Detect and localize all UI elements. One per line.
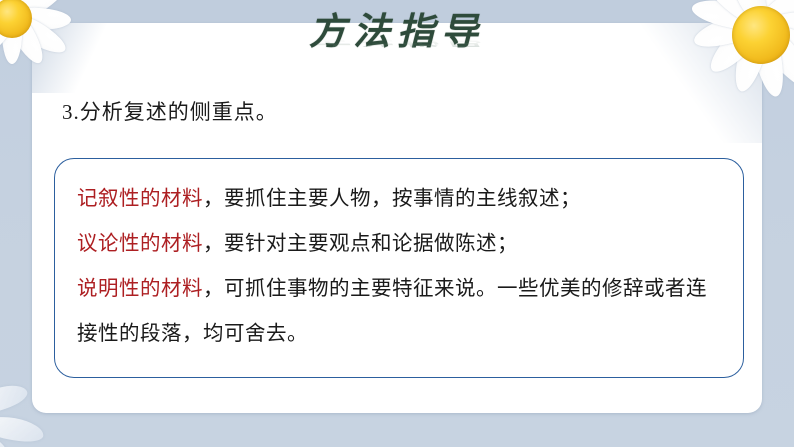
section-heading: 3.分析复述的侧重点。 [62,96,278,126]
method-note-box: 记叙性的材料，要抓住主要人物，按事情的主线叙述； 议论性的材料，要针对主要观点和… [54,158,744,378]
note-line-1: 记叙性的材料，要抓住主要人物，按事情的主线叙述； [77,177,721,222]
note-text-1: ，要抓住主要人物，按事情的主线叙述； [203,188,581,210]
petal [757,19,794,76]
top-blue-band [0,0,794,23]
slide-canvas: 方法指导 方法指导 3.分析复述的侧重点。 记叙性的材料，要抓住主要人物，按事情… [0,0,794,447]
note-keyword-3: 说明性的材料 [77,278,203,300]
note-keyword-1: 记叙性的材料 [77,188,203,210]
petal [0,380,30,418]
note-text-2: ，要针对主要观点和论据做陈述； [203,233,518,255]
petal [0,424,12,447]
note-line-3: 说明性的材料，可抓住事物的主要特征来说。一些优美的修辞或者连接性的段落，均可舍去… [77,267,721,357]
petal [0,413,45,445]
note-keyword-2: 议论性的材料 [77,233,203,255]
note-line-2: 议论性的材料，要针对主要观点和论据做陈述； [77,222,721,267]
